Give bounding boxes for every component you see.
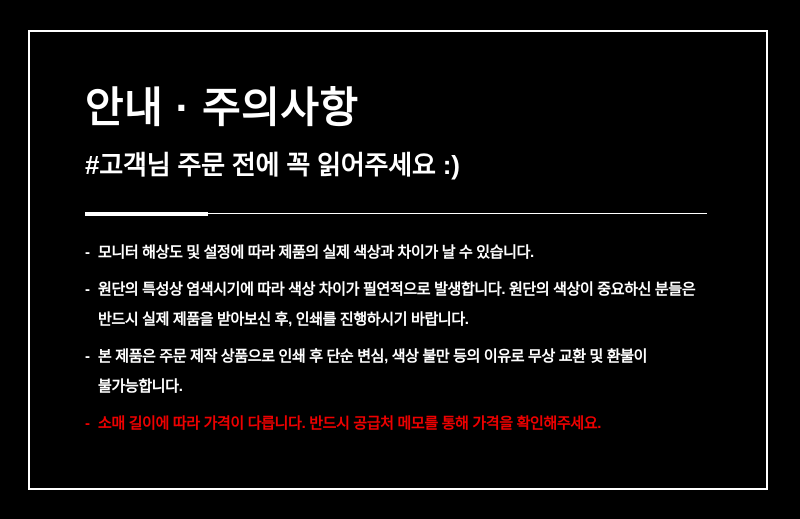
notice-item: -모니터 해상도 및 설정에 따라 제품의 실제 색상과 차이가 날 수 있습니… <box>85 238 735 268</box>
dash-bullet-icon: - <box>85 409 90 439</box>
notice-list: -모니터 해상도 및 설정에 따라 제품의 실제 색상과 차이가 날 수 있습니… <box>85 238 735 439</box>
divider-accent-segment <box>85 212 208 216</box>
dash-bullet-icon: - <box>85 238 90 268</box>
notice-item-text: 모니터 해상도 및 설정에 따라 제품의 실제 색상과 차이가 날 수 있습니다… <box>98 244 534 261</box>
divider-hairline-segment <box>208 213 707 214</box>
notice-item: -소매 길이에 따라 가격이 다릅니다. 반드시 공급처 메모를 통해 가격을 … <box>85 409 735 439</box>
page-title: 안내 · 주의사항 <box>85 87 359 129</box>
notice-item: -본 제품은 주문 제작 상품으로 인쇄 후 단순 변심, 색상 불만 등의 이… <box>85 342 735 402</box>
notice-item-text: 원단의 특성상 염색시기에 따라 색상 차이가 필연적으로 발생합니다. 원단의… <box>98 281 695 328</box>
notice-item-text: 본 제품은 주문 제작 상품으로 인쇄 후 단순 변심, 색상 불만 등의 이유… <box>98 348 647 395</box>
dash-bullet-icon: - <box>85 342 90 372</box>
notice-item: -원단의 특성상 염색시기에 따라 색상 차이가 필연적으로 발생합니다. 원단… <box>85 275 735 335</box>
section-divider <box>85 212 707 216</box>
page-subtitle: #고객님 주문 전에 꼭 읽어주세요 :) <box>85 152 460 178</box>
notice-card: 안내 · 주의사항 #고객님 주문 전에 꼭 읽어주세요 :) -모니터 해상도… <box>0 0 800 519</box>
dash-bullet-icon: - <box>85 275 90 305</box>
notice-item-text: 소매 길이에 따라 가격이 다릅니다. 반드시 공급처 메모를 통해 가격을 확… <box>98 415 601 432</box>
